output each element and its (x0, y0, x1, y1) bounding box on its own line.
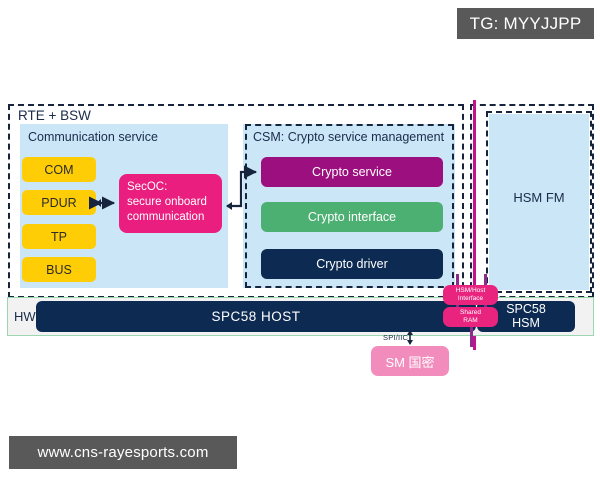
secoc-line-3: communication (127, 210, 214, 225)
shared-ram-chip[interactable]: Shared RAM (443, 307, 498, 327)
diagram-canvas: RTE + BSW Communication service COM PDUR… (0, 0, 600, 480)
secoc-box[interactable]: SecOC: secure onboard communication (119, 174, 222, 233)
crypto-driver-box[interactable]: Crypto driver (261, 249, 443, 279)
hsm-host-interface-line-1: HSM/Host (456, 287, 486, 295)
crypto-service-box[interactable]: Crypto service (261, 157, 443, 187)
module-box-pdur[interactable]: PDUR (22, 190, 96, 215)
csm-title: CSM: Crypto service management (253, 130, 444, 144)
module-box-com[interactable]: COM (22, 157, 96, 182)
hsm-downlink-stem (470, 325, 473, 347)
hsm-host-interface-line-2: Interface (458, 295, 483, 303)
hardware-layer-label: HW (14, 309, 36, 324)
module-box-tp[interactable]: TP (22, 224, 96, 249)
spc58-host-bar[interactable]: SPC58 HOST (36, 301, 476, 332)
spc58-hsm-line-1: SPC58 (506, 303, 546, 317)
url-watermark-badge: www.cns-rayesports.com (9, 436, 237, 469)
sm-guomi-device-box[interactable]: SM 国密 (371, 346, 449, 376)
spi-iic-bus-label: SPI/IIC (383, 333, 408, 342)
tg-watermark-badge: TG: MYYJJPP (457, 8, 594, 39)
rte-bsw-title: RTE + BSW (18, 108, 91, 123)
spc58-hsm-line-2: HSM (512, 317, 540, 331)
shared-ram-line-2: RAM (463, 317, 477, 325)
module-box-bus[interactable]: BUS (22, 257, 96, 282)
secoc-line-2: secure onboard (127, 195, 214, 210)
secoc-line-1: SecOC: (127, 180, 214, 195)
hsm-fm-label: HSM FM (489, 190, 589, 205)
communication-service-title: Communication service (28, 130, 158, 144)
hsm-host-interface-chip[interactable]: HSM/Host Interface (443, 285, 498, 305)
crypto-interface-box[interactable]: Crypto interface (261, 202, 443, 232)
shared-ram-line-1: Shared (460, 309, 481, 317)
